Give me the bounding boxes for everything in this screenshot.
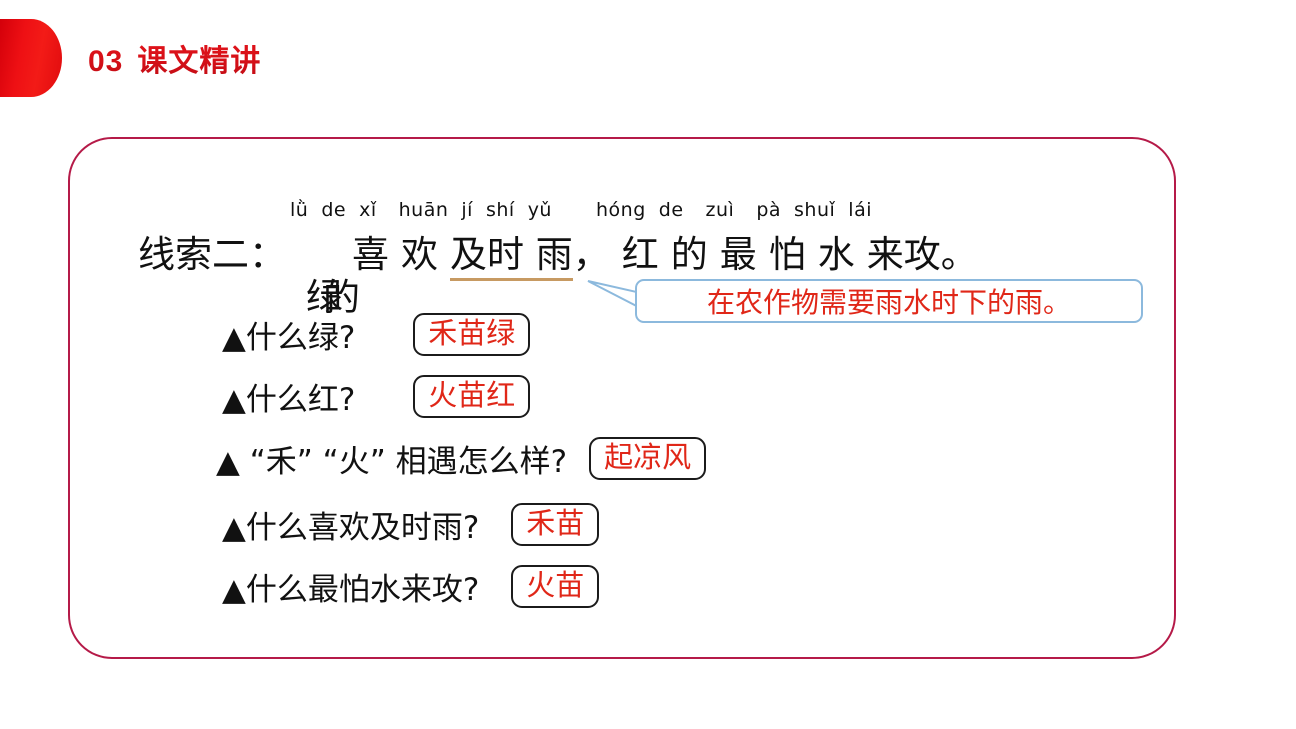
qa-answer-chip[interactable]: 禾苗绿 <box>413 313 530 356</box>
qa-question: ▲什么喜欢及时雨? <box>222 502 479 547</box>
callout-bubble: 在农作物需要雨水时下的雨。 <box>635 279 1143 323</box>
qa-row: ▲什么红? 火苗红 <box>222 374 530 419</box>
pinyin-yu: yǔ <box>528 199 552 221</box>
qa-row: ▲什么喜欢及时雨? 禾苗 <box>222 502 599 547</box>
pinyin-zui: zuì <box>706 199 735 221</box>
qa-question: ▲什么绿? <box>222 312 355 357</box>
pinyin-lu: lǜ <box>290 199 308 221</box>
qa-answer-chip[interactable]: 火苗红 <box>413 375 530 418</box>
pinyin-xi: xǐ <box>359 199 377 221</box>
qa-question: ▲ “禾” “火” 相遇怎么样? <box>216 436 567 481</box>
clue-label: 线索二： <box>138 233 286 276</box>
character-pa: 怕 <box>769 233 806 276</box>
pinyin-ji: jí <box>461 199 473 221</box>
character-shui: 水 <box>818 233 855 276</box>
character-hong: 红 <box>622 233 659 276</box>
characters-laigong: 来攻。 <box>867 233 978 276</box>
character-huan: 欢 <box>401 233 438 276</box>
pinyin-lai: lái <box>848 199 872 221</box>
pinyin-de-2: de <box>659 199 684 221</box>
qa-answer-chip[interactable]: 火苗 <box>511 565 599 608</box>
header-tab-shape-icon <box>0 19 62 97</box>
pinyin-annotation-row: lǜdexǐhuānjíshíyǔhóngdezuìpàshuǐlái <box>290 199 872 221</box>
pinyin-pa: pà <box>756 199 781 221</box>
section-title: 课文精讲 <box>137 45 261 78</box>
underlined-term-jishiyu: 及时 雨 <box>450 233 573 281</box>
qa-row: ▲什么最怕水来攻? 火苗 <box>222 564 599 609</box>
qa-question: ▲什么红? <box>222 374 355 419</box>
character-zui: 最 <box>720 233 757 276</box>
qa-answer-chip[interactable]: 起凉风 <box>589 437 706 480</box>
qa-answer-chip[interactable]: 禾苗 <box>511 503 599 546</box>
character-de-2: 的 <box>671 233 708 276</box>
sentence-comma: ， <box>573 233 610 276</box>
qa-row: ▲ “禾” “火” 相遇怎么样? 起凉风 <box>216 436 706 481</box>
qa-row: ▲什么绿? 禾苗绿 <box>222 312 530 357</box>
page-title: 03课文精讲 <box>88 36 261 80</box>
pinyin-hong: hóng <box>596 199 646 221</box>
section-number: 03 <box>88 45 123 78</box>
pinyin-de-1: de <box>321 199 346 221</box>
pinyin-shui: shuǐ <box>794 199 835 221</box>
pinyin-shi: shí <box>486 199 515 221</box>
pinyin-huan: huān <box>399 199 449 221</box>
callout-text: 在农作物需要雨水时下的雨。 <box>707 281 1071 321</box>
slide-header: 03课文精讲 <box>0 19 420 97</box>
lesson-sentence-line: 线索二：绿的喜欢及时 雨，红的最怕水来攻。 <box>138 224 978 278</box>
qa-question: ▲什么最怕水来攻? <box>222 564 479 609</box>
